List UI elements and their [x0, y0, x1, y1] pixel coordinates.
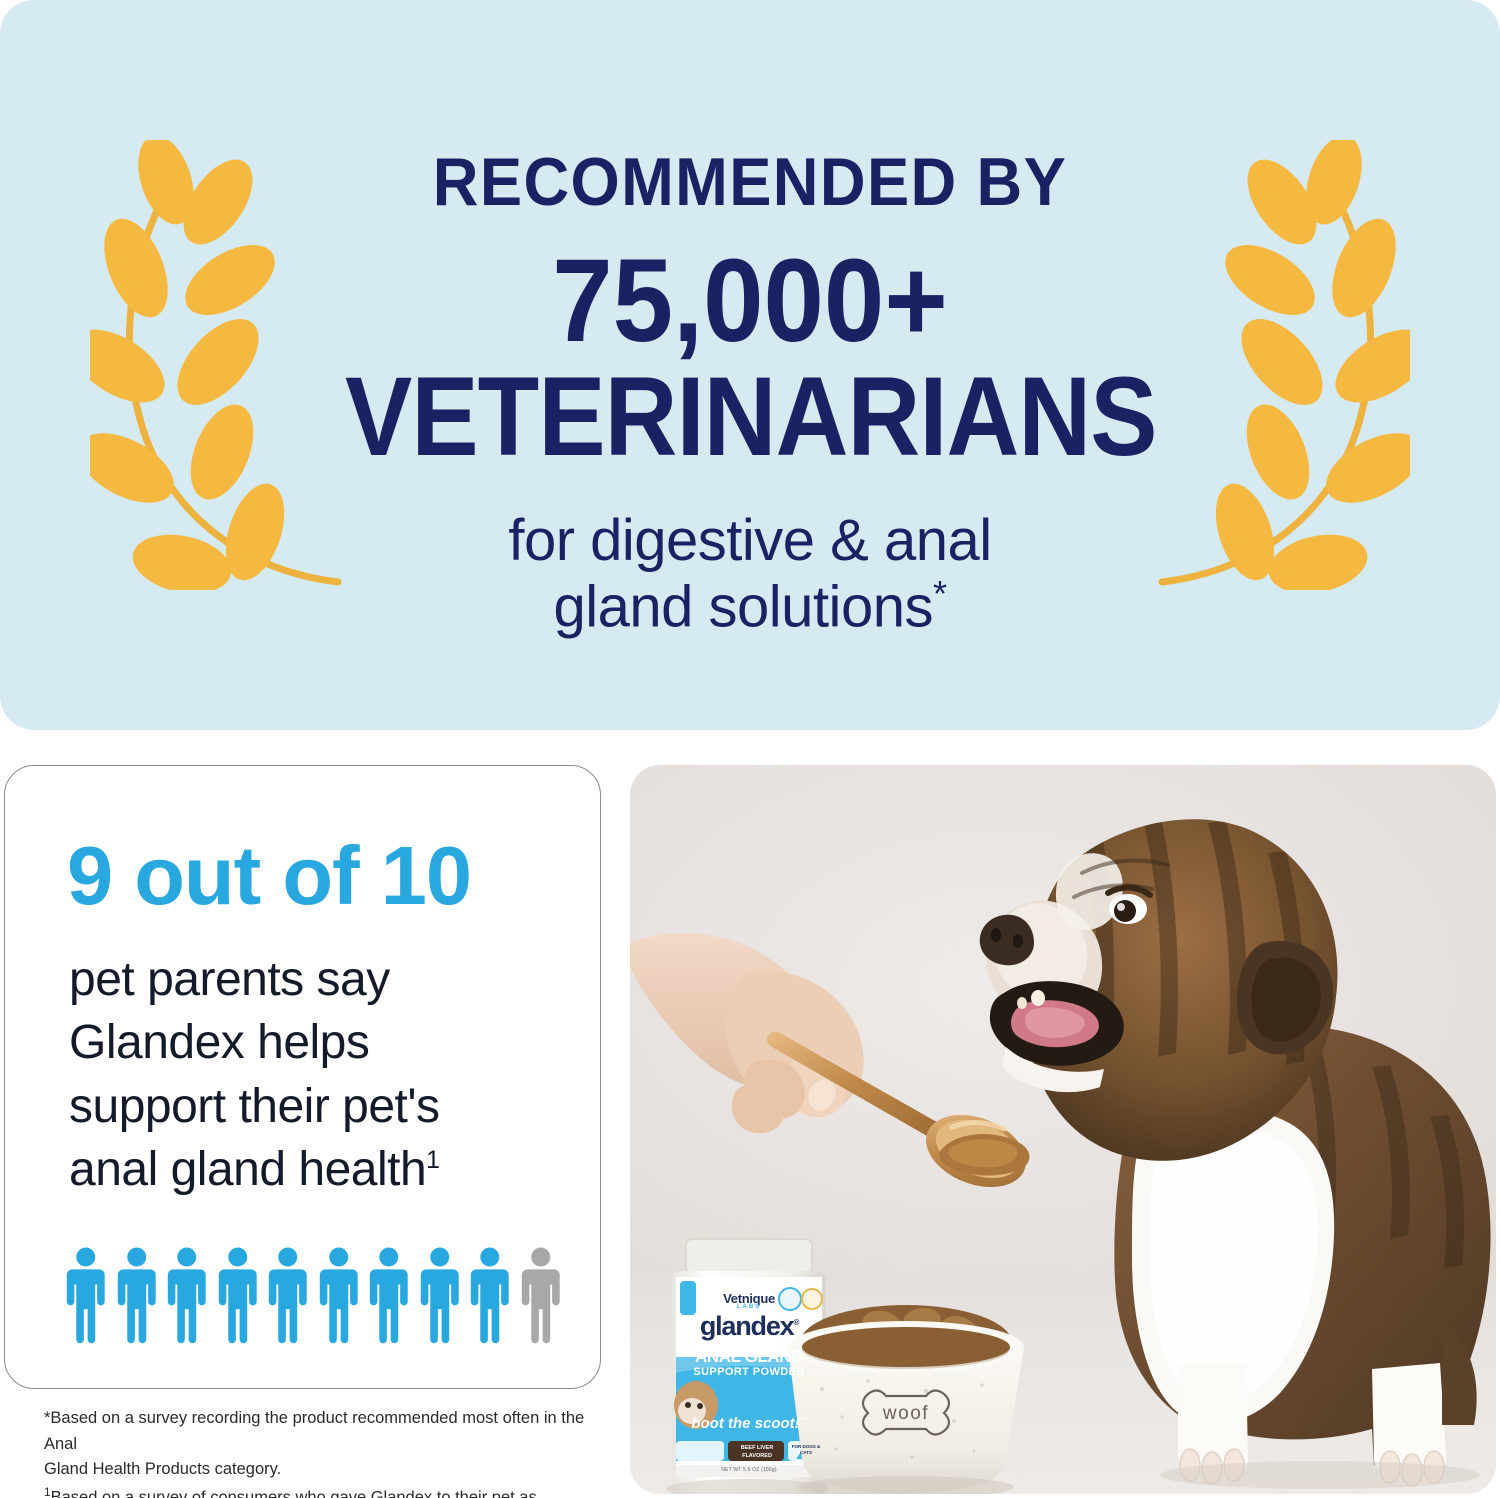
- banner-subtitle-line2: gland solutions: [554, 575, 933, 640]
- person-icon: [114, 1244, 160, 1344]
- banner-eyebrow: RECOMMENDED BY: [332, 148, 1169, 216]
- person-icon: [265, 1244, 311, 1344]
- person-icon: [63, 1244, 109, 1344]
- promo-infographic: RECOMMENDED BY 75,000+ VETERINARIANS for…: [0, 0, 1500, 1498]
- footnote-one-marker: 1: [44, 1485, 51, 1498]
- banner-subtitle-line1: for digestive & anal: [508, 508, 991, 573]
- footnote-asterisk-line2: Gland Health Products category.: [44, 1457, 604, 1483]
- footnote-asterisk-line1: *Based on a survey recording the product…: [44, 1406, 604, 1457]
- banner-text-block: RECOMMENDED BY 75,000+ VETERINARIANS for…: [300, 140, 1200, 641]
- stat-body-line2: Glandex helps: [69, 1016, 369, 1069]
- person-icon: [164, 1244, 210, 1344]
- nine-out-of-ten-card: 9 out of 10 pet parents say Glandex help…: [4, 765, 601, 1389]
- banner-stat-number: 75,000+: [336, 238, 1164, 365]
- people-pictogram: [63, 1244, 563, 1344]
- stat-body-marker: 1: [426, 1146, 439, 1174]
- hand-with-spoon: [630, 933, 1036, 1200]
- stat-headline: 9 out of 10: [67, 834, 471, 917]
- product-lifestyle-photo: woof Vetnique LABS glandex® ANAL GLAND S…: [630, 765, 1496, 1494]
- banner-stat-noun: VETERINARIANS: [345, 361, 1155, 473]
- stat-body-line1: pet parents say: [69, 953, 390, 1006]
- dog-bowl: woof: [788, 1305, 1024, 1494]
- person-icon: [316, 1244, 362, 1344]
- banner-subtitle: for digestive & anal gland solutions*: [300, 509, 1200, 640]
- stat-body-line4: anal gland health: [69, 1143, 426, 1196]
- person-icon: [467, 1244, 513, 1344]
- person-icon: [417, 1244, 463, 1344]
- footnote-one: 1Based on a survey of consumers who gave…: [44, 1483, 604, 1498]
- person-icon: [366, 1244, 412, 1344]
- stat-body-line3: support their pet's: [69, 1080, 440, 1133]
- person-icon: [215, 1244, 261, 1344]
- footnotes: *Based on a survey recording the product…: [44, 1406, 604, 1498]
- stat-body: pet parents say Glandex helps support th…: [69, 948, 569, 1201]
- svg-text:woof: woof: [882, 1403, 929, 1424]
- person-icon-muted: [518, 1244, 564, 1344]
- recommended-by-banner: RECOMMENDED BY 75,000+ VETERINARIANS for…: [0, 0, 1500, 730]
- banner-subtitle-marker: *: [933, 573, 947, 614]
- footnote-one-text: Based on a survey of consumers who gave …: [44, 1488, 537, 1498]
- bulldog-icon: [980, 813, 1491, 1486]
